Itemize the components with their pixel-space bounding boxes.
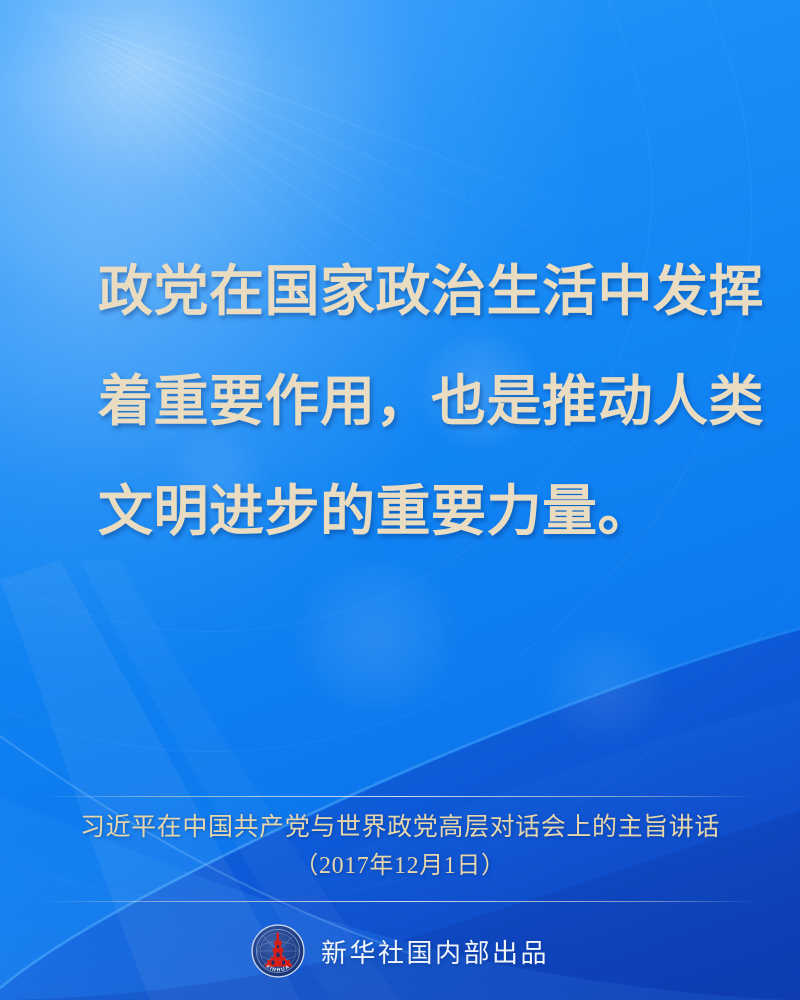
headline-line-1: 政党在国家政治生活中发挥 — [98, 236, 728, 346]
background-bokeh — [540, 630, 670, 740]
divider-bottom — [40, 901, 760, 902]
headline-quote: 政党在国家政治生活中发挥 着重要作用，也是推动人类 文明进步的重要力量。 — [98, 236, 728, 566]
footer: XINHUA 新华社国内部出品 — [0, 924, 800, 978]
footer-label: 新华社国内部出品 — [321, 933, 549, 970]
caption-date: （2017年12月1日） — [0, 847, 800, 886]
headline-line-3: 文明进步的重要力量。 — [98, 456, 728, 566]
quote-poster: 政党在国家政治生活中发挥 着重要作用，也是推动人类 文明进步的重要力量。 习近平… — [0, 0, 800, 1000]
headline-line-2: 着重要作用，也是推动人类 — [98, 346, 728, 456]
background-bokeh — [290, 560, 460, 710]
caption-block: 习近平在中国共产党与世界政党高层对话会上的主旨讲话 （2017年12月1日） — [0, 808, 800, 886]
xinhua-logo: XINHUA — [251, 924, 305, 978]
caption-source: 习近平在中国共产党与世界政党高层对话会上的主旨讲话 — [0, 808, 800, 847]
divider-top — [40, 796, 760, 797]
